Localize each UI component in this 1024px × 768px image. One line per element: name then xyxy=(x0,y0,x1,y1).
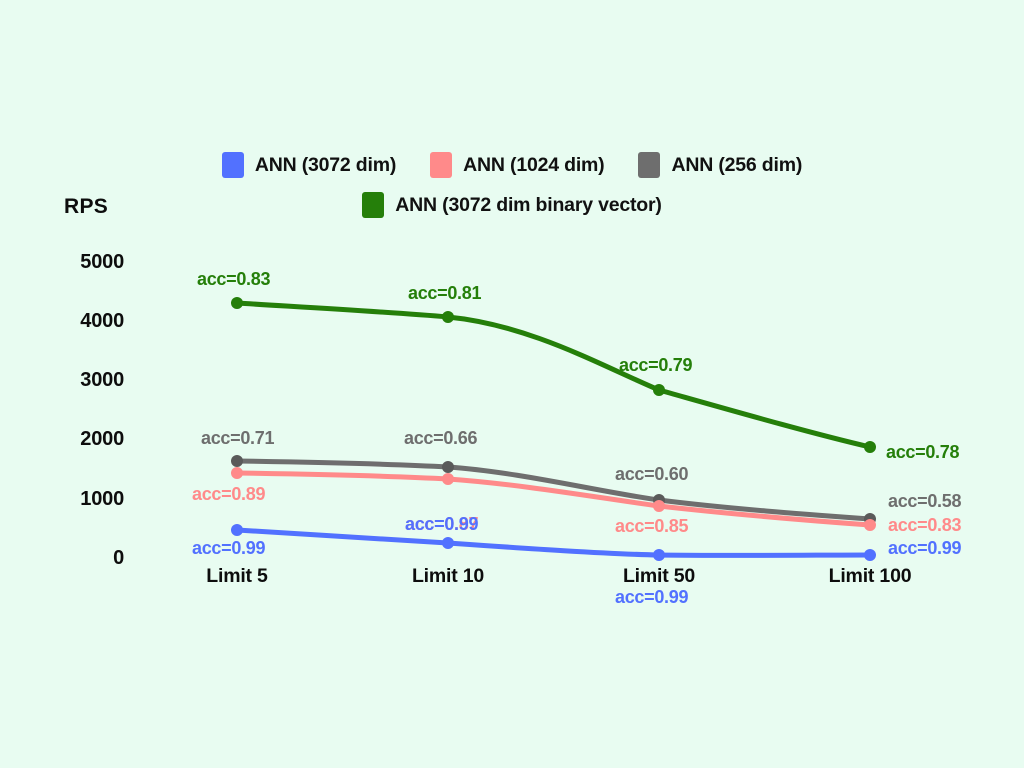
data-point-blue-limit100[interactable] xyxy=(864,549,876,561)
x-tick-limit-10: Limit 10 xyxy=(358,565,538,588)
data-point-blue-limit10[interactable] xyxy=(442,537,454,549)
acc-label-red-limit5: acc=0.89 xyxy=(192,484,265,505)
acc-label-blue-limit10: acc=0.99 xyxy=(405,514,478,535)
data-point-green-limit5[interactable] xyxy=(231,297,243,309)
data-point-red-limit100[interactable] xyxy=(864,519,876,531)
x-tick-limit-5: Limit 5 xyxy=(147,565,327,588)
acc-label-gray-limit50: acc=0.60 xyxy=(615,464,688,485)
data-point-green-limit10[interactable] xyxy=(442,311,454,323)
chart-canvas: ANN (3072 dim) ANN (1024 dim) ANN (256 d… xyxy=(0,0,1024,768)
acc-label-green-limit100: acc=0.78 xyxy=(886,442,959,463)
series-line-green xyxy=(237,303,870,447)
data-point-gray-limit10[interactable] xyxy=(442,461,454,473)
data-point-red-limit5[interactable] xyxy=(231,467,243,479)
acc-label-gray-limit5: acc=0.71 xyxy=(201,428,274,449)
acc-label-red-limit50: acc=0.85 xyxy=(615,516,688,537)
data-point-green-limit100[interactable] xyxy=(864,441,876,453)
acc-label-gray-limit10: acc=0.66 xyxy=(404,428,477,449)
acc-label-green-limit10: acc=0.81 xyxy=(408,283,481,304)
acc-label-gray-limit100: acc=0.58 xyxy=(888,491,961,512)
plot-area xyxy=(0,0,1024,768)
acc-label-blue-limit5: acc=0.99 xyxy=(192,538,265,559)
data-point-green-limit50[interactable] xyxy=(653,384,665,396)
data-point-blue-limit50[interactable] xyxy=(653,549,665,561)
acc-label-green-limit50: acc=0.79 xyxy=(619,355,692,376)
acc-label-blue-limit100: acc=0.99 xyxy=(888,538,961,559)
data-point-red-limit50[interactable] xyxy=(653,500,665,512)
acc-label-blue-limit50: acc=0.99 xyxy=(615,587,688,608)
series-line-blue xyxy=(237,530,870,555)
data-point-gray-limit5[interactable] xyxy=(231,455,243,467)
acc-label-red-limit100: acc=0.83 xyxy=(888,515,961,536)
x-tick-limit-50: Limit 50 xyxy=(569,565,749,588)
data-point-blue-limit5[interactable] xyxy=(231,524,243,536)
x-tick-limit-100: Limit 100 xyxy=(780,565,960,588)
acc-label-green-limit5: acc=0.83 xyxy=(197,269,270,290)
data-point-red-limit10[interactable] xyxy=(442,473,454,485)
